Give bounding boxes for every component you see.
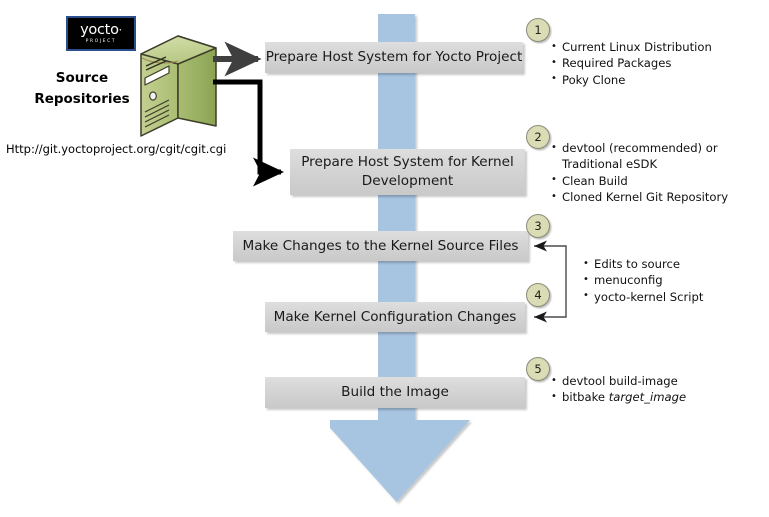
list-item-text: bitbake xyxy=(562,390,609,404)
list-item: yocto-kernel Script xyxy=(583,289,743,305)
step-number-badge-2: 2 xyxy=(526,125,550,149)
list-item: devtool build-image xyxy=(551,373,741,389)
step-number: 1 xyxy=(534,23,541,37)
list-item: Current Linux Distribution xyxy=(551,39,751,55)
list-item: menuconfig xyxy=(583,272,743,288)
step-number: 5 xyxy=(534,362,541,376)
list-item: devtool (recommended) or Traditional eSD… xyxy=(551,140,726,173)
step-number-badge-5: 5 xyxy=(526,357,550,381)
list-item: Cloned Kernel Git Repository xyxy=(551,189,726,205)
list-item: bitbake target_image xyxy=(551,389,741,405)
list-item-text: devtool build-image xyxy=(562,374,678,388)
list-item: Edits to source xyxy=(583,256,743,272)
step-number: 4 xyxy=(534,288,541,302)
list-item: Required Packages xyxy=(551,55,751,71)
step-number-badge-1: 1 xyxy=(526,18,550,42)
list-item: Clean Build xyxy=(551,173,726,189)
arrow-server-to-step2 xyxy=(213,82,281,172)
step-number: 2 xyxy=(534,130,541,144)
step-number-badge-4: 4 xyxy=(526,283,550,307)
step-2-bullet-list: devtool (recommended) or Traditional eSD… xyxy=(551,140,726,206)
step-1-bullet-list: Current Linux Distribution Required Pack… xyxy=(551,39,751,88)
step-number-badge-3: 3 xyxy=(526,214,550,238)
diagram-canvas: yocto· PROJECT Source Repositories Http:… xyxy=(0,0,769,517)
list-item-emphasis: target_image xyxy=(609,390,686,404)
list-item: Poky Clone xyxy=(551,72,751,88)
step-5-bullet-list: devtool build-image bitbake target_image xyxy=(551,373,741,406)
step-3-4-bullet-list: Edits to source menuconfig yocto-kernel … xyxy=(583,256,743,305)
feedback-loop-connector xyxy=(534,241,566,323)
step-number: 3 xyxy=(534,219,541,233)
